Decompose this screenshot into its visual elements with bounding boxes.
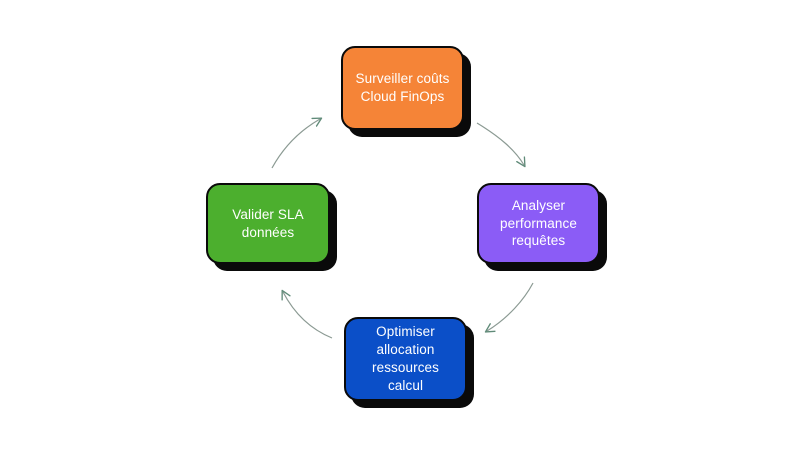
arrow-right-bottom bbox=[487, 283, 533, 331]
node-optimiser-allocation-ressources-calcul[interactable]: Optimiser allocation ressources calcul bbox=[344, 317, 467, 401]
node-label: Surveiller coûts Cloud FinOps bbox=[351, 70, 454, 106]
node-label: Valider SLA données bbox=[216, 206, 320, 242]
node-label: Optimiser allocation ressources calcul bbox=[354, 323, 457, 394]
node-label: Analyser performance requêtes bbox=[487, 197, 590, 250]
node-surveiller-couts-cloud-finops[interactable]: Surveiller coûts Cloud FinOps bbox=[341, 46, 464, 130]
arrow-left-top bbox=[272, 119, 320, 168]
node-valider-sla-donnees[interactable]: Valider SLA données bbox=[206, 183, 330, 264]
diagram-canvas: Surveiller coûts Cloud FinOps Analyser p… bbox=[0, 0, 800, 450]
arrow-bottom-left bbox=[283, 292, 332, 338]
node-analyser-performance-requetes[interactable]: Analyser performance requêtes bbox=[477, 183, 600, 264]
arrow-top-right bbox=[477, 123, 524, 165]
